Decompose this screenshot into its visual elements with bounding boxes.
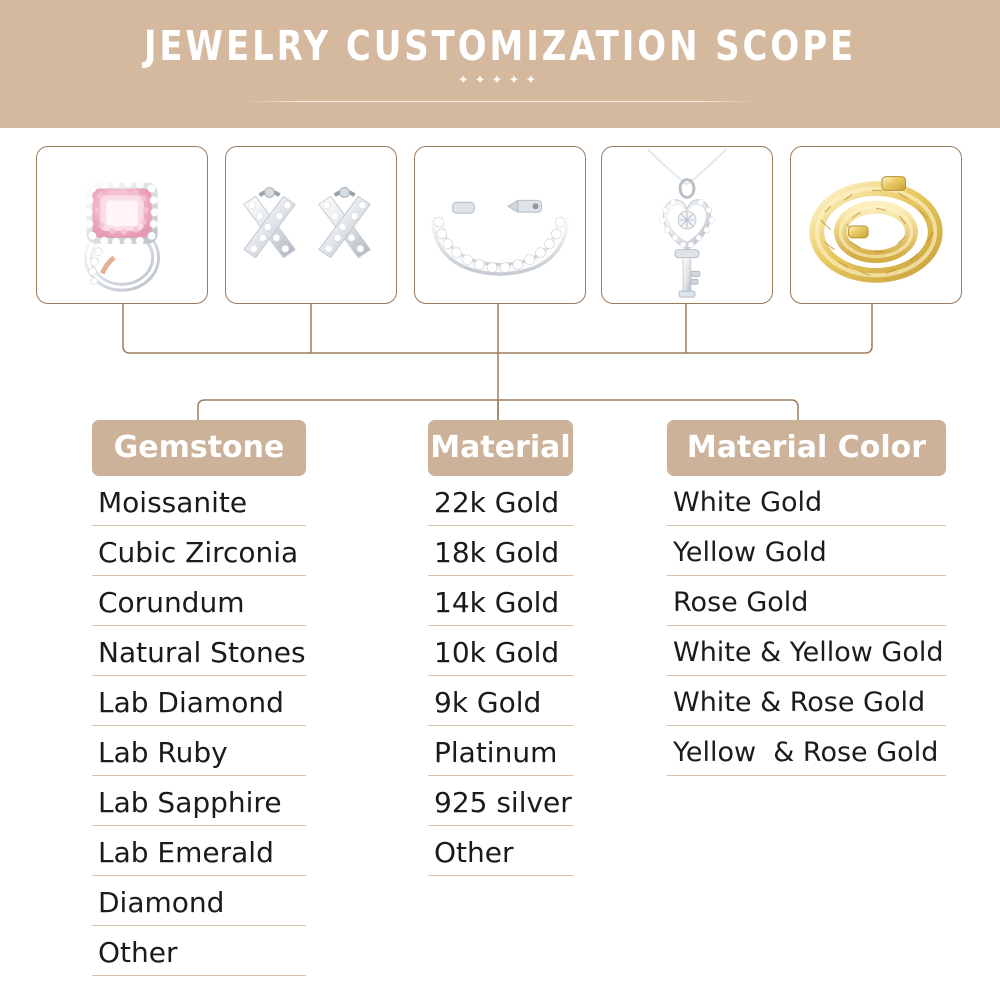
connector-lines bbox=[0, 300, 1000, 430]
product-card-necklace-pendant[interactable] bbox=[601, 146, 773, 304]
material-option-list: 22k Gold 18k Gold 14k Gold 10k Gold 9k G… bbox=[428, 476, 573, 876]
list-item[interactable]: Moissanite bbox=[92, 476, 306, 526]
list-item[interactable]: Diamond bbox=[92, 876, 306, 926]
list-item[interactable]: Yellow & Rose Gold bbox=[667, 726, 946, 776]
list-item[interactable]: Lab Ruby bbox=[92, 726, 306, 776]
list-item[interactable]: 925 silver bbox=[428, 776, 573, 826]
list-item[interactable]: 22k Gold bbox=[428, 476, 573, 526]
list-item[interactable]: Natural Stones bbox=[92, 626, 306, 676]
page-title: JEWELRY CUSTOMIZATION SCOPE bbox=[40, 22, 960, 70]
list-item[interactable]: White & Yellow Gold bbox=[667, 626, 946, 676]
list-item[interactable]: Lab Sapphire bbox=[92, 776, 306, 826]
column-material-color: Material Color White Gold Yellow Gold Ro… bbox=[667, 420, 946, 776]
list-item[interactable]: Lab Emerald bbox=[92, 826, 306, 876]
product-card-ring[interactable] bbox=[36, 146, 208, 304]
list-item[interactable]: Other bbox=[428, 826, 573, 876]
list-item[interactable]: 18k Gold bbox=[428, 526, 573, 576]
column-gemstone: Gemstone Moissanite Cubic Zirconia Corun… bbox=[92, 420, 306, 976]
list-item[interactable]: White & Rose Gold bbox=[667, 676, 946, 726]
tennis-bracelet-image bbox=[415, 147, 585, 303]
list-item[interactable]: 14k Gold bbox=[428, 576, 573, 626]
list-item[interactable]: Other bbox=[92, 926, 306, 976]
column-heading-gemstone: Gemstone bbox=[92, 420, 306, 476]
list-item[interactable]: Corundum bbox=[92, 576, 306, 626]
infographic-page: JEWELRY CUSTOMIZATION SCOPE ✦✦✦✦✦ bbox=[0, 0, 1000, 1000]
list-item[interactable]: White Gold bbox=[667, 476, 946, 526]
list-item[interactable]: 9k Gold bbox=[428, 676, 573, 726]
column-material: Material 22k Gold 18k Gold 14k Gold 10k … bbox=[428, 420, 573, 876]
x-cross-stud-earrings-image bbox=[226, 147, 396, 303]
halo-engagement-ring-image bbox=[37, 147, 207, 303]
page-header: JEWELRY CUSTOMIZATION SCOPE ✦✦✦✦✦ bbox=[0, 0, 1000, 128]
list-item[interactable]: Cubic Zirconia bbox=[92, 526, 306, 576]
product-card-earrings[interactable] bbox=[225, 146, 397, 304]
column-heading-material-color: Material Color bbox=[667, 420, 946, 476]
list-item[interactable]: Yellow Gold bbox=[667, 526, 946, 576]
star-divider-icon: ✦✦✦✦✦ bbox=[0, 74, 1000, 88]
list-item[interactable]: Lab Diamond bbox=[92, 676, 306, 726]
product-card-row bbox=[0, 146, 1000, 306]
connector-diagram bbox=[0, 300, 1000, 430]
list-item[interactable]: Rose Gold bbox=[667, 576, 946, 626]
material-color-option-list: White Gold Yellow Gold Rose Gold White &… bbox=[667, 476, 946, 776]
list-item[interactable]: 10k Gold bbox=[428, 626, 573, 676]
product-card-chain[interactable] bbox=[790, 146, 962, 304]
cuban-link-chain-image bbox=[791, 147, 961, 303]
column-heading-material: Material bbox=[428, 420, 573, 476]
heart-key-necklace-image bbox=[602, 147, 772, 303]
product-card-bracelet[interactable] bbox=[414, 146, 586, 304]
list-item[interactable]: Platinum bbox=[428, 726, 573, 776]
gemstone-option-list: Moissanite Cubic Zirconia Corundum Natur… bbox=[92, 476, 306, 976]
header-divider bbox=[243, 101, 757, 102]
